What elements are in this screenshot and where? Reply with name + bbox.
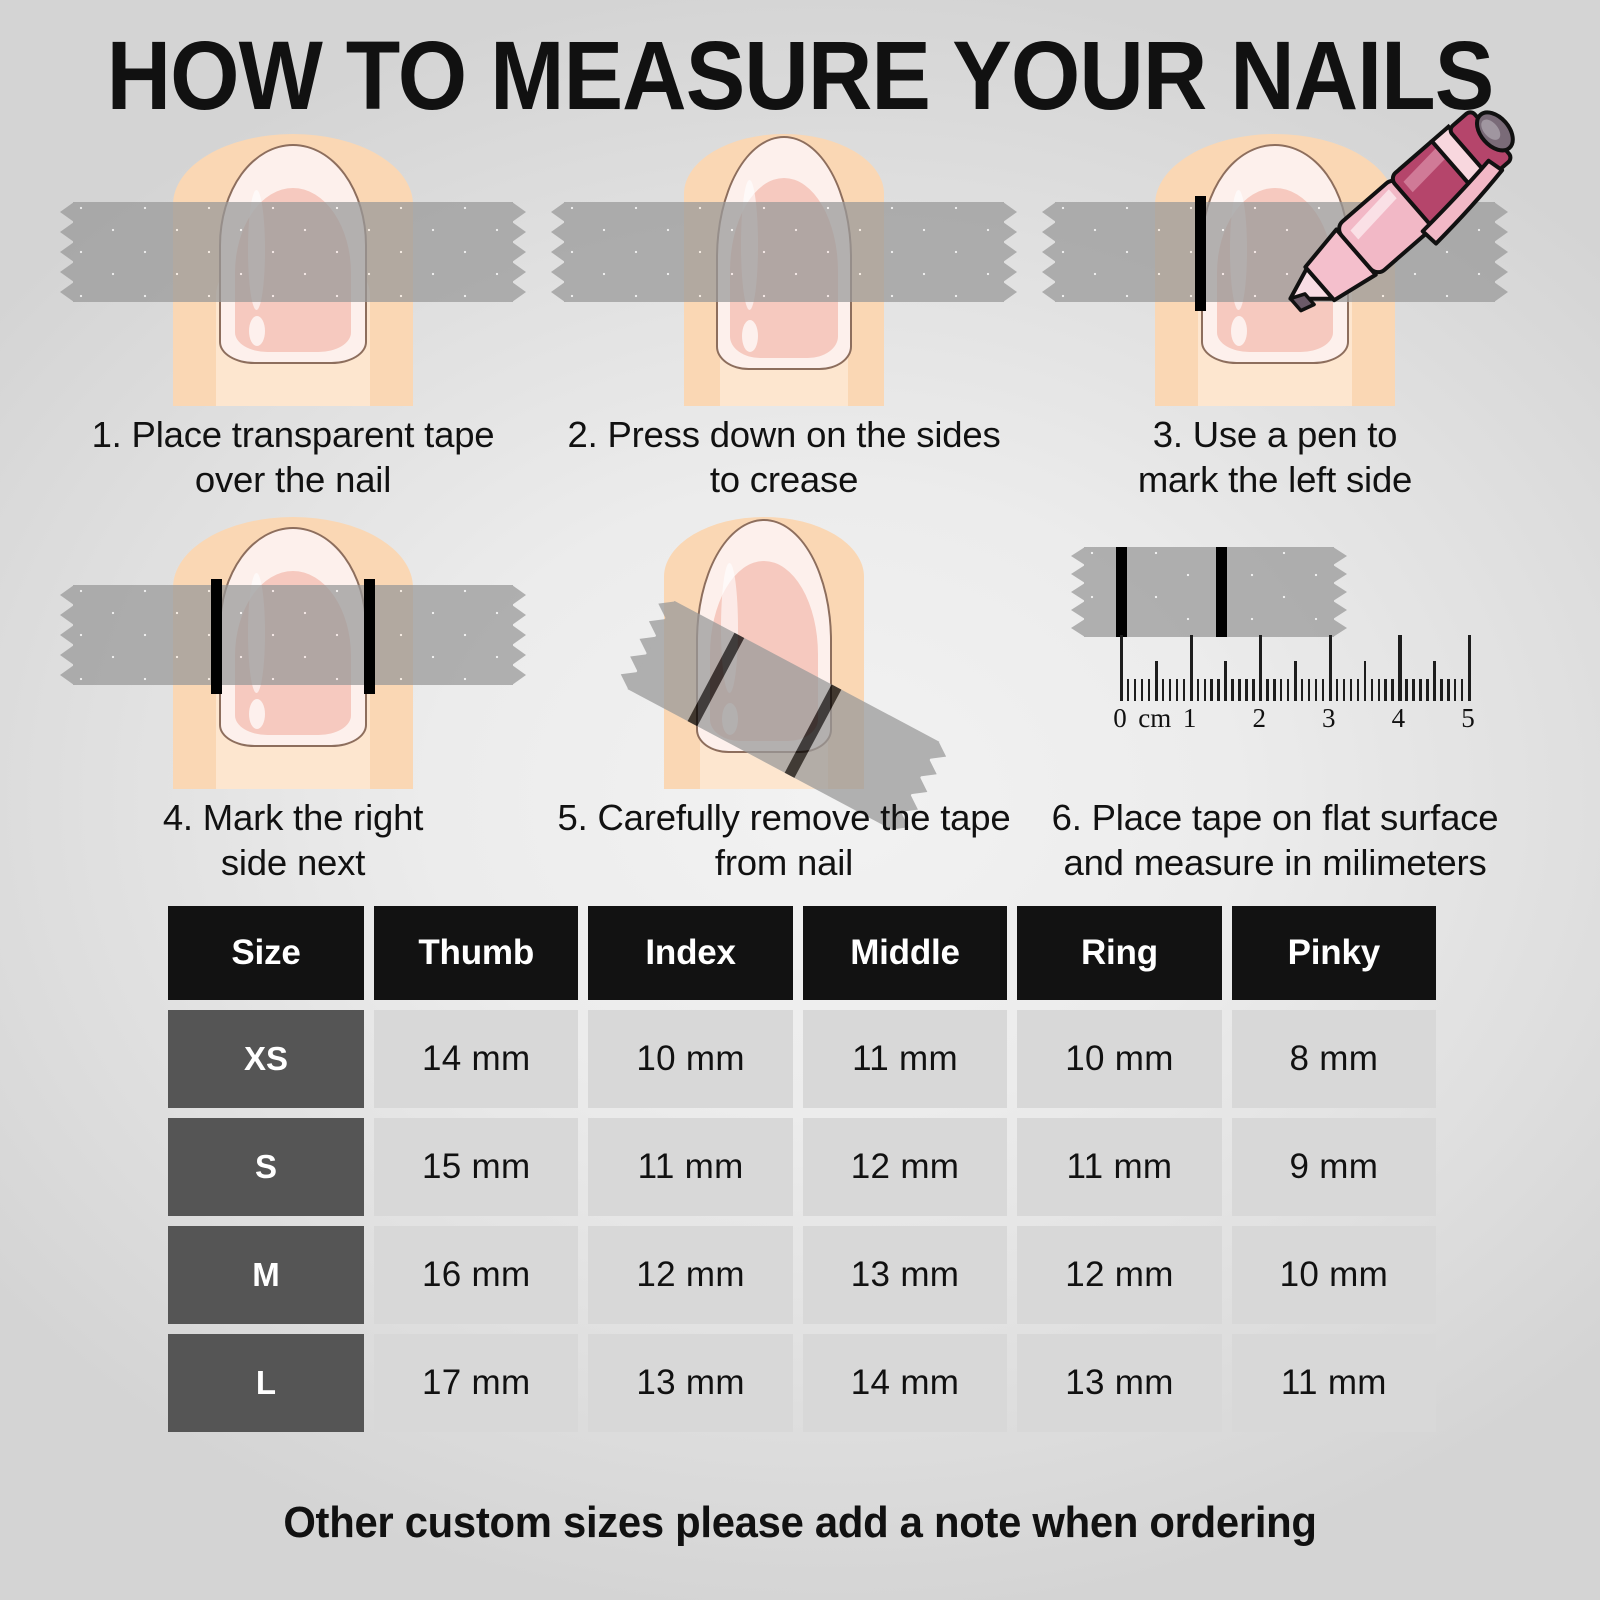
- step-5-caption: 5. Carefully remove the tape from nail: [551, 795, 1017, 885]
- pen-marking-icon: [1042, 134, 1508, 406]
- table-header-thumb: Thumb: [374, 906, 578, 1000]
- table-data-cell: 13 mm: [588, 1334, 792, 1432]
- step-4: 4. Mark the right side next: [60, 517, 526, 789]
- table-data-cell: 11 mm: [588, 1118, 792, 1216]
- ruler-tick: [1197, 679, 1199, 701]
- nail-tape-creased-icon: [551, 134, 1017, 406]
- tape-mark-2: [1216, 547, 1227, 637]
- ruler-labels: 012345cm: [1120, 703, 1468, 739]
- ruler-tick: [1294, 661, 1297, 701]
- ruler-tick: [1364, 661, 1367, 701]
- table-size-cell: XS: [168, 1010, 364, 1108]
- tape-left-edge-icon: [60, 202, 74, 302]
- pen-icon: [1264, 110, 1544, 340]
- ruler-label: 3: [1309, 703, 1349, 734]
- nail-mark-right: [364, 579, 375, 694]
- nail-gloss-dot: [742, 320, 758, 352]
- ruler-tick: [1134, 679, 1136, 701]
- table-header-row: SizeThumbIndexMiddleRingPinky: [168, 906, 1436, 1000]
- ruler-tick: [1266, 679, 1268, 701]
- tape-strip: [73, 202, 513, 302]
- table-data-cell: 9 mm: [1232, 1118, 1436, 1216]
- ruler-tick: [1280, 679, 1282, 701]
- step-2: 2. Press down on the sides to crease: [551, 134, 1017, 406]
- tape-left-edge-icon: [1071, 547, 1085, 637]
- table-row: XS14 mm10 mm11 mm10 mm8 mm: [168, 1010, 1436, 1108]
- ruler-tick: [1405, 679, 1407, 701]
- ruler-tick: [1468, 635, 1471, 701]
- ruler-tick: [1371, 679, 1373, 701]
- tape-peeled-icon: [551, 517, 1017, 789]
- ruler-tick: [1412, 679, 1414, 701]
- ruler-tick: [1315, 679, 1317, 701]
- table-data-cell: 11 mm: [1232, 1334, 1436, 1432]
- ruler-tick: [1384, 679, 1386, 701]
- nail-two-marks-icon: [60, 517, 526, 789]
- ruler-tick: [1252, 679, 1254, 701]
- step-5: 5. Carefully remove the tape from nail: [551, 517, 1017, 789]
- ruler-tick: [1461, 679, 1463, 701]
- tape-strip: [564, 202, 1004, 302]
- nail-gloss-dot: [249, 316, 265, 346]
- table-row: L17 mm13 mm14 mm13 mm11 mm: [168, 1334, 1436, 1432]
- nail-mark-left: [211, 579, 222, 694]
- step-3: 3. Use a pen to mark the left side: [1042, 134, 1508, 406]
- ruler-scale: [1120, 635, 1468, 701]
- step-2-caption: 2. Press down on the sides to crease: [551, 412, 1017, 502]
- ruler-tick: [1287, 679, 1289, 701]
- ruler-tick: [1217, 679, 1219, 701]
- ruler-tick: [1273, 679, 1275, 701]
- table-header-ring: Ring: [1017, 906, 1221, 1000]
- ruler-label: 1: [1170, 703, 1210, 734]
- tape-texture-dots: [73, 202, 513, 302]
- table-header-index: Index: [588, 906, 792, 1000]
- table-data-cell: 8 mm: [1232, 1010, 1436, 1108]
- ruler-tick: [1238, 679, 1240, 701]
- ruler-tick: [1440, 679, 1442, 701]
- ruler-tick: [1169, 679, 1171, 701]
- ruler-tick: [1141, 679, 1143, 701]
- ruler-tick: [1120, 635, 1123, 701]
- ruler-tick: [1398, 635, 1401, 701]
- tape-strip: [73, 585, 513, 685]
- ruler-label: 5: [1448, 703, 1488, 734]
- ruler-tick: [1245, 679, 1247, 701]
- table-header-middle: Middle: [803, 906, 1007, 1000]
- table-data-cell: 12 mm: [1017, 1226, 1221, 1324]
- table-size-cell: L: [168, 1334, 364, 1432]
- ruler-tick: [1155, 661, 1158, 701]
- tape-right-edge-icon: [512, 202, 526, 302]
- tape-left-edge-icon: [60, 585, 74, 685]
- table-data-cell: 12 mm: [803, 1118, 1007, 1216]
- tape-right-edge-icon: [512, 585, 526, 685]
- table-header-size: Size: [168, 906, 364, 1000]
- ruler-tick: [1308, 679, 1310, 701]
- nail-gloss-dot: [249, 699, 265, 729]
- table-size-cell: S: [168, 1118, 364, 1216]
- ruler-tick: [1183, 679, 1185, 701]
- ruler-tick: [1419, 679, 1421, 701]
- infographic-page: HOW TO MEASURE YOUR NAILS 1. Place trans…: [0, 0, 1600, 1600]
- ruler-label: 2: [1239, 703, 1279, 734]
- ruler-tick: [1231, 679, 1233, 701]
- table-size-cell: M: [168, 1226, 364, 1324]
- table-data-cell: 15 mm: [374, 1118, 578, 1216]
- table-data-cell: 13 mm: [803, 1226, 1007, 1324]
- step-3-caption: 3. Use a pen to mark the left side: [1042, 412, 1508, 502]
- tape-left-edge-icon: [1042, 202, 1056, 302]
- nail-mark-left: [1195, 196, 1206, 311]
- tape-left-edge-icon: [551, 202, 565, 302]
- ruler-tick: [1336, 679, 1338, 701]
- table-data-cell: 10 mm: [1232, 1226, 1436, 1324]
- step-4-caption: 4. Mark the right side next: [60, 795, 526, 885]
- nail-gloss-dot: [1231, 316, 1247, 346]
- step-6: 012345cm 6. Place tape on flat surface a…: [1042, 517, 1508, 789]
- table-data-cell: 12 mm: [588, 1226, 792, 1324]
- ruler-tick: [1343, 679, 1345, 701]
- ruler-tick: [1210, 679, 1212, 701]
- table-data-cell: 17 mm: [374, 1334, 578, 1432]
- ruler-tick: [1162, 679, 1164, 701]
- tape-right-edge-icon: [1003, 202, 1017, 302]
- ruler-tick: [1350, 679, 1352, 701]
- ruler-tick: [1127, 679, 1129, 701]
- footer-note: Other custom sizes please add a note whe…: [40, 1498, 1560, 1548]
- ruler-tick: [1454, 679, 1456, 701]
- tape-texture-dots: [73, 585, 513, 685]
- tape-mark-1: [1116, 547, 1127, 637]
- nail-with-tape-icon: [60, 134, 526, 406]
- ruler-tick: [1391, 679, 1393, 701]
- table-data-cell: 14 mm: [374, 1010, 578, 1108]
- ruler-tick: [1447, 679, 1449, 701]
- ruler-tick: [1176, 679, 1178, 701]
- ruler-label: 4: [1378, 703, 1418, 734]
- ruler-icon: 012345cm: [1042, 517, 1508, 789]
- step-6-caption: 6. Place tape on flat surface and measur…: [1042, 795, 1508, 885]
- table-header-pinky: Pinky: [1232, 906, 1436, 1000]
- table-body: XS14 mm10 mm11 mm10 mm8 mmS15 mm11 mm12 …: [168, 1010, 1436, 1432]
- ruler-tick: [1190, 635, 1193, 701]
- table-data-cell: 10 mm: [588, 1010, 792, 1108]
- ruler-tick: [1204, 679, 1206, 701]
- ruler-tick: [1148, 679, 1150, 701]
- ruler-tick: [1224, 661, 1227, 701]
- ruler-tick: [1322, 679, 1324, 701]
- ruler-tick: [1433, 661, 1436, 701]
- ruler-tick: [1378, 679, 1380, 701]
- ruler-tick: [1259, 635, 1262, 701]
- step-1: 1. Place transparent tape over the nail: [60, 134, 526, 406]
- table-data-cell: 14 mm: [803, 1334, 1007, 1432]
- table-row: M16 mm12 mm13 mm12 mm10 mm: [168, 1226, 1436, 1324]
- table-data-cell: 16 mm: [374, 1226, 578, 1324]
- size-chart-table: SizeThumbIndexMiddleRingPinky XS14 mm10 …: [168, 906, 1436, 1432]
- tape-right-edge-icon: [1333, 547, 1347, 637]
- table-data-cell: 13 mm: [1017, 1334, 1221, 1432]
- ruler-tick: [1357, 679, 1359, 701]
- step-1-caption: 1. Place transparent tape over the nail: [60, 412, 526, 502]
- ruler-unit-label: cm: [1135, 703, 1175, 734]
- table-data-cell: 11 mm: [803, 1010, 1007, 1108]
- table-data-cell: 11 mm: [1017, 1118, 1221, 1216]
- table-data-cell: 10 mm: [1017, 1010, 1221, 1108]
- table-row: S15 mm11 mm12 mm11 mm9 mm: [168, 1118, 1436, 1216]
- ruler-tick: [1329, 635, 1332, 701]
- tape-texture-dots: [564, 202, 1004, 302]
- ruler-tick: [1301, 679, 1303, 701]
- ruler-tick: [1426, 679, 1428, 701]
